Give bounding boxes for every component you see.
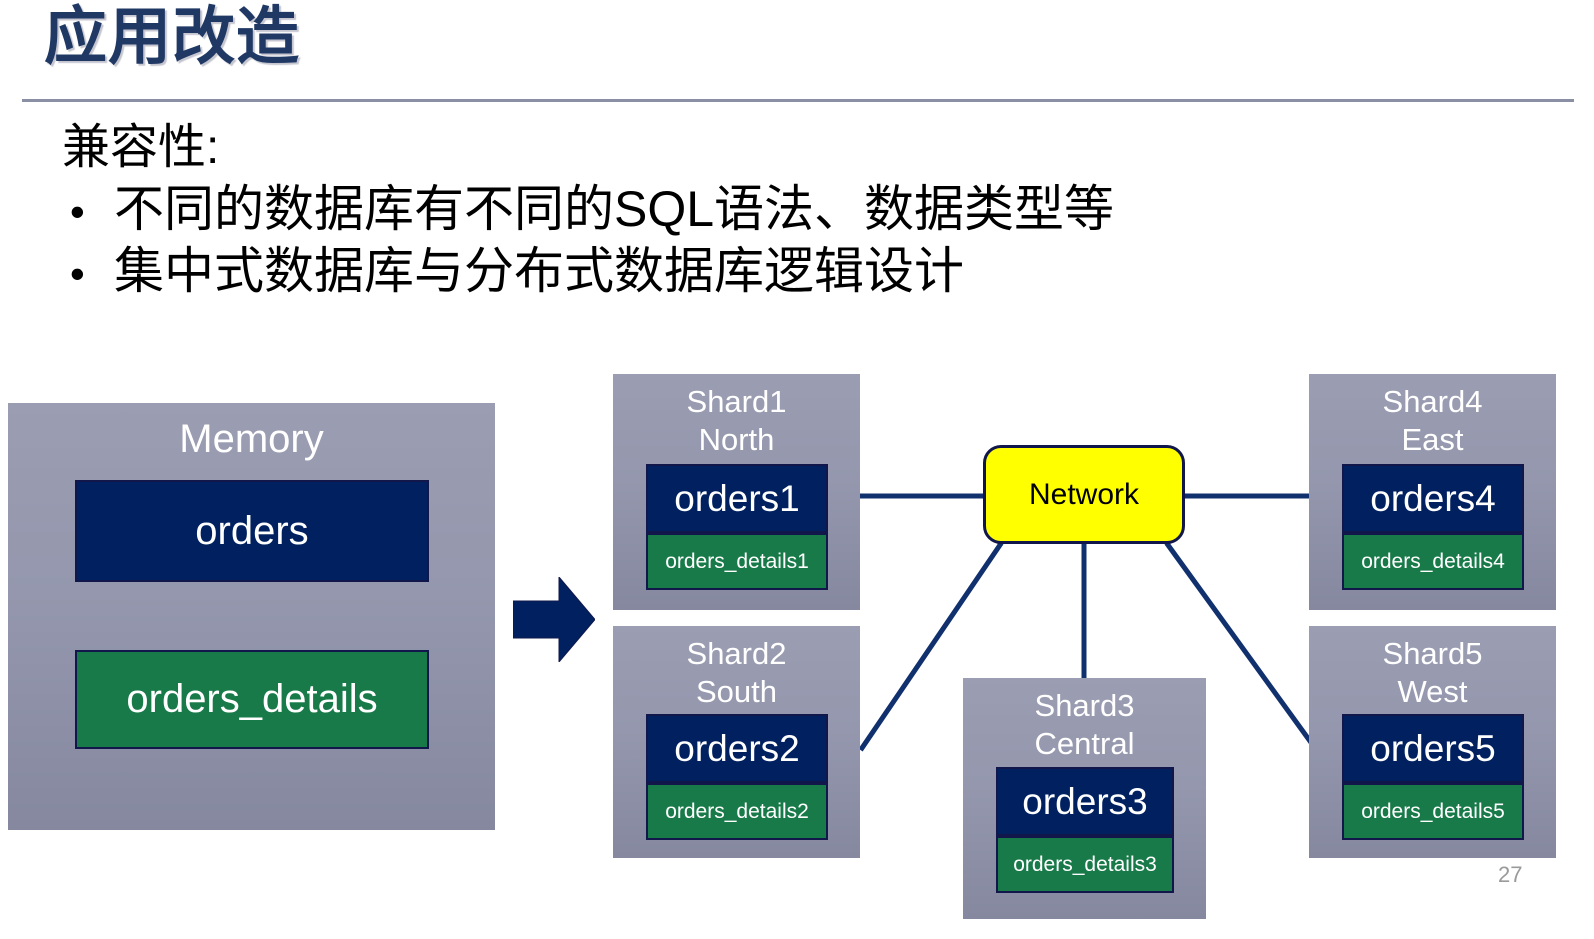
shard4-panel-label: Shard4 East xyxy=(1309,374,1556,459)
shard3-panel-label: Shard3 Central xyxy=(963,678,1206,763)
right-block-arrow-icon xyxy=(513,577,595,662)
shard2-panel-label: Shard2 South xyxy=(613,626,860,711)
shard1-orders-table: orders1 xyxy=(646,464,828,533)
shard3-details-table: orders_details3 xyxy=(996,836,1174,893)
shard2-details-table: orders_details2 xyxy=(646,783,828,840)
sharding-diagram: Memory orders orders_details Shard1 Nort… xyxy=(0,0,1594,939)
shard5-details-table: orders_details5 xyxy=(1342,783,1524,840)
shard5-orders-table: orders5 xyxy=(1342,714,1524,783)
memory-panel-label: Memory xyxy=(8,403,495,464)
shard5-panel-label: Shard5 West xyxy=(1309,626,1556,711)
slide-number: 27 xyxy=(1498,862,1522,888)
table-orders-details: orders_details xyxy=(75,650,429,749)
shard1-panel-label: Shard1 North xyxy=(613,374,860,459)
shard4-details-table: orders_details4 xyxy=(1342,533,1524,590)
shard2-orders-table: orders2 xyxy=(646,714,828,783)
table-orders: orders xyxy=(75,480,429,582)
shard1-details-table: orders_details1 xyxy=(646,533,828,590)
memory-panel: Memory xyxy=(8,403,495,830)
network-node: Network xyxy=(983,445,1185,544)
shard4-orders-table: orders4 xyxy=(1342,464,1524,533)
shard3-orders-table: orders3 xyxy=(996,767,1174,836)
